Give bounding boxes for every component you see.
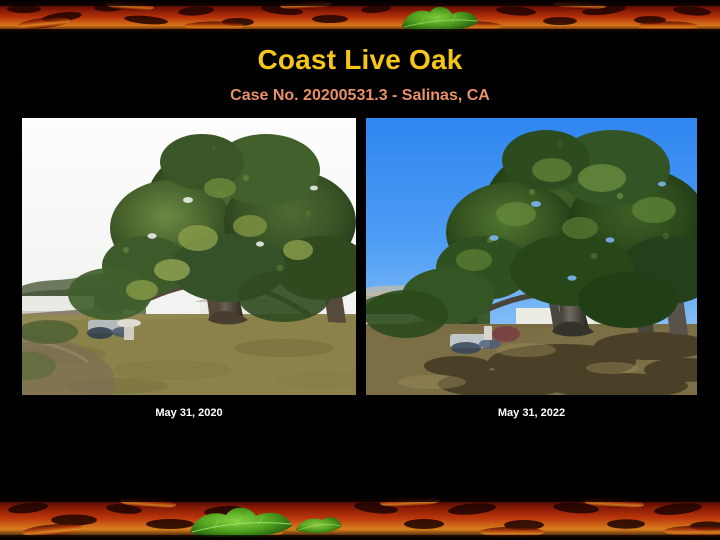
bottom-leaf-border xyxy=(0,494,720,540)
photo-caption-2020: May 31, 2020 xyxy=(22,406,356,420)
photo-2020-image xyxy=(22,118,356,395)
top-border-artwork xyxy=(0,0,720,34)
photo-caption-2022: May 31, 2022 xyxy=(366,406,697,420)
slide-canvas: Coast Live Oak Case No. 20200531.3 - Sal… xyxy=(0,0,720,540)
top-leaf-border xyxy=(0,0,720,34)
photo-2022[interactable] xyxy=(366,118,697,395)
photo-2022-image xyxy=(366,118,697,395)
slide-subtitle: Case No. 20200531.3 - Salinas, CA xyxy=(0,86,720,106)
bottom-border-artwork xyxy=(0,494,720,540)
slide-title: Coast Live Oak xyxy=(0,44,720,76)
photo-2020[interactable] xyxy=(22,118,356,395)
